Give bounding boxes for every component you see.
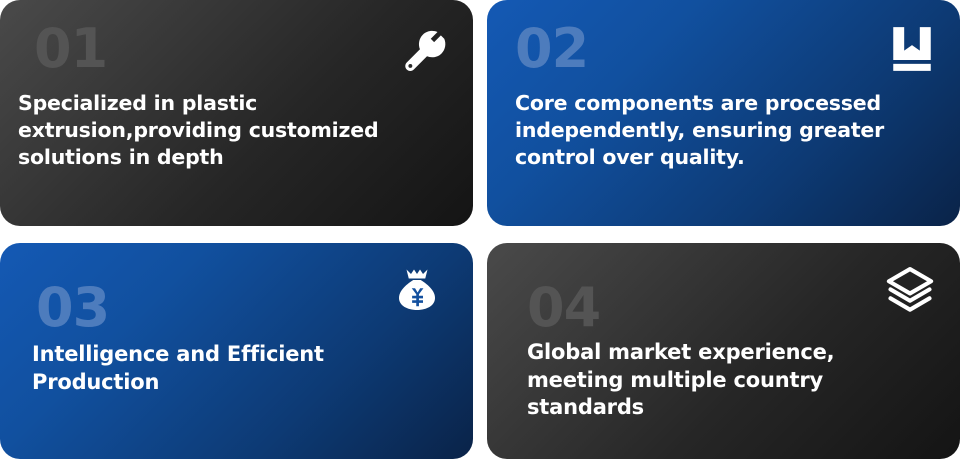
feature-card-04-number: 04 xyxy=(527,281,940,335)
feature-card-03[interactable]: 03 Intelligence and Efficient Production xyxy=(0,243,473,459)
book-icon xyxy=(887,24,937,74)
feature-card-01-text: Specialized in plastic extrusion,providi… xyxy=(18,90,453,171)
feature-card-02-text: Core components are processed independen… xyxy=(515,90,940,171)
feature-card-03-text: Intelligence and Efficient Production xyxy=(32,341,453,396)
money-bag-yen-icon xyxy=(393,265,441,313)
feature-card-02[interactable]: 02 Core components are processed indepen… xyxy=(487,0,960,226)
feature-card-01[interactable]: 01 Specialized in plastic extrusion,prov… xyxy=(0,0,473,226)
wrench-icon xyxy=(400,26,448,74)
feature-card-04[interactable]: 04 Global market experience, meeting mul… xyxy=(487,243,960,459)
feature-card-grid: 01 Specialized in plastic extrusion,prov… xyxy=(0,0,960,459)
feature-card-03-number: 03 xyxy=(36,281,453,335)
feature-card-04-text: Global market experience, meeting multip… xyxy=(527,339,897,422)
layers-icon xyxy=(884,265,936,317)
feature-card-02-number: 02 xyxy=(515,22,940,76)
feature-card-01-number: 01 xyxy=(34,22,453,76)
